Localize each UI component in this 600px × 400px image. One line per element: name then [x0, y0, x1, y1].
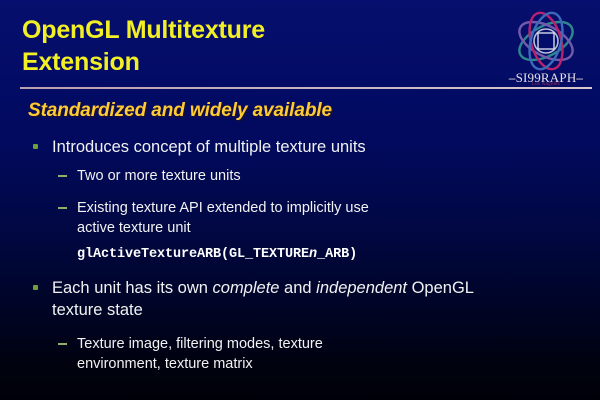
code-snippet: glActiveTextureARB(GL_TEXTUREn_ARB): [0, 245, 600, 265]
bullet-emphasis-independent: independent: [316, 279, 407, 297]
code-italic-variable: n: [309, 247, 317, 262]
slide-subtitle: Standardized and widely available: [28, 100, 332, 122]
bullet-text-part-2: and: [279, 279, 316, 297]
bullet-dot-icon: [33, 285, 38, 290]
slide-title-line-1: OpenGL Multitexture: [22, 14, 462, 46]
code-suffix: _ARB): [317, 247, 357, 262]
slide-title-line-2: Extension: [22, 46, 462, 78]
bullet-text: Introduces concept of multiple texture u…: [52, 138, 366, 156]
bullet-item-level1: Introduces concept of multiple texture u…: [0, 136, 600, 158]
bullet-text-line-2: environment, texture matrix: [77, 356, 253, 372]
bullet-text-line-1: Existing texture API extended to implici…: [77, 200, 369, 216]
bullet-dash-icon: [58, 175, 67, 177]
bullet-text-line-2: texture state: [52, 301, 143, 319]
siggraph-logo: –SI99RAPH– Los Angeles: [496, 10, 596, 92]
bullet-dash-icon: [58, 343, 67, 345]
bullet-text-line-2: active texture unit: [77, 220, 191, 236]
slide-canvas: OpenGL Multitexture Extension –SI99RAPH–…: [0, 0, 600, 400]
slide-title: OpenGL Multitexture Extension: [22, 14, 462, 78]
siggraph-rings-icon: [504, 10, 588, 72]
bullet-emphasis-complete: complete: [213, 279, 280, 297]
bullet-text-line-1: Texture image, filtering modes, texture: [77, 336, 323, 352]
bullet-text-part-1: Each unit has its own: [52, 279, 213, 297]
slide-body: Introduces concept of multiple texture u…: [0, 136, 600, 381]
siggraph-city-label: Los Angeles: [496, 82, 596, 87]
bullet-dash-icon: [58, 207, 67, 209]
bullet-dot-icon: [33, 144, 38, 149]
bullet-item-level2: Texture image, filtering modes, texture …: [0, 334, 600, 374]
bullet-text-part-3: OpenGL: [407, 279, 474, 297]
bullet-item-level2: Two or more texture units: [0, 166, 600, 186]
bullet-item-level2: Existing texture API extended to implici…: [0, 198, 600, 238]
code-prefix: glActiveTextureARB(GL_TEXTURE: [77, 247, 309, 262]
bullet-text: Two or more texture units: [77, 168, 241, 184]
bullet-item-level1: Each unit has its own complete and indep…: [0, 277, 600, 321]
